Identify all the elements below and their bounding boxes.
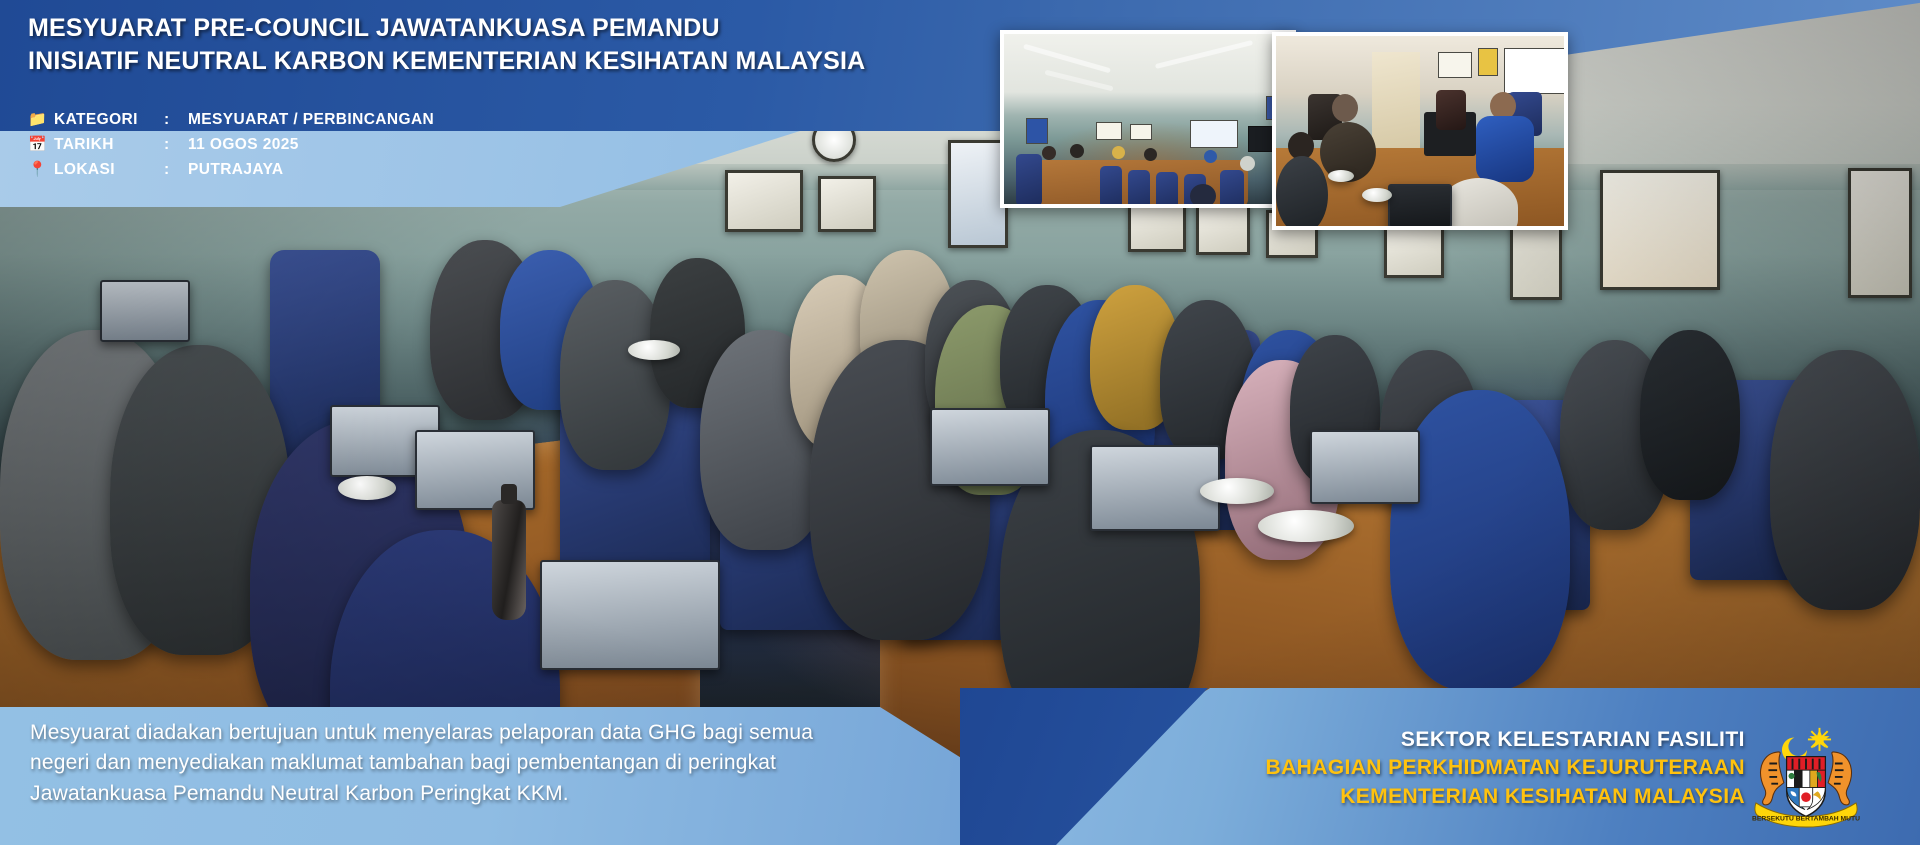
inset-person bbox=[1240, 156, 1255, 171]
inset-person bbox=[1070, 144, 1084, 158]
meeting-room-wide-photo bbox=[1000, 30, 1296, 208]
title-line-1: MESYUARAT PRE-COUNCIL JAWATANKUASA PEMAN… bbox=[28, 12, 1028, 45]
calendar-icon: 📅 bbox=[28, 137, 54, 152]
inset2-person-body bbox=[1276, 156, 1328, 230]
laptop bbox=[1388, 184, 1452, 228]
inset-person bbox=[1112, 146, 1125, 159]
svg-text:BERSEKUTU BERTAMBAH MUTU: BERSEKUTU BERTAMBAH MUTU bbox=[1752, 815, 1860, 822]
inset-chair bbox=[1100, 166, 1122, 208]
brand-line-sektor: SEKTOR KELESTARIAN FASILITI bbox=[1266, 726, 1746, 754]
kategori-label: KATEGORI bbox=[54, 111, 164, 129]
inset2-person-blue-uniform bbox=[1476, 116, 1534, 182]
kategori-value: MESYUARAT / PERBINCANGAN bbox=[188, 111, 434, 129]
inset-chair bbox=[1128, 170, 1150, 208]
wall-frame bbox=[1130, 124, 1152, 140]
event-metadata: 📁 KATEGORI : MESYUARAT / PERBINCANGAN 📅 … bbox=[28, 107, 668, 182]
ceiling-vent bbox=[1023, 44, 1111, 74]
banner-poster: MESYUARAT PRE-COUNCIL JAWATANKUASA PEMAN… bbox=[0, 0, 1920, 845]
inset-chair bbox=[1156, 172, 1178, 208]
tarikh-label: TARIKH bbox=[54, 136, 164, 154]
wall-certificates bbox=[1504, 48, 1568, 94]
wall-document bbox=[1438, 52, 1472, 78]
decor-panel bbox=[1372, 52, 1420, 148]
lokasi-separator: : bbox=[164, 161, 188, 179]
wall-frame bbox=[1096, 122, 1122, 140]
jata-negara-malaysia-emblem: BERSEKUTU BERTAMBAH MUTU bbox=[1748, 724, 1864, 828]
discussion-closeup-photo bbox=[1272, 32, 1568, 230]
ceiling-vent bbox=[1155, 40, 1253, 69]
inset-chair bbox=[1220, 170, 1244, 208]
metadata-row-lokasi: 📍 LOKASI : PUTRAJAYA bbox=[28, 157, 668, 182]
wall-document bbox=[1478, 48, 1498, 76]
kategori-separator: : bbox=[164, 111, 188, 129]
jersey-frame bbox=[1026, 118, 1048, 144]
metadata-row-tarikh: 📅 TARIKH : 11 OGOS 2025 bbox=[28, 132, 668, 157]
organisation-branding: SEKTOR KELESTARIAN FASILITI BAHAGIAN PER… bbox=[1266, 726, 1746, 811]
inset-person bbox=[1144, 148, 1157, 161]
lokasi-label: LOKASI bbox=[54, 161, 164, 179]
inset-person bbox=[1204, 150, 1217, 163]
cup-saucer bbox=[1362, 188, 1392, 202]
inset-person bbox=[1042, 146, 1056, 160]
lokasi-value: PUTRAJAYA bbox=[188, 161, 284, 179]
cup-saucer bbox=[1328, 170, 1354, 182]
brand-line-kementerian: KEMENTERIAN KESIHATAN MALAYSIA bbox=[1266, 783, 1746, 811]
title-line-2: INISIATIF NEUTRAL KARBON KEMENTERIAN KES… bbox=[28, 45, 1028, 78]
projector-screen bbox=[1190, 120, 1238, 148]
brand-line-bahagian: BAHAGIAN PERKHIDMATAN KEJURUTERAAN bbox=[1266, 754, 1746, 782]
caption-text: Mesyuarat diadakan bertujuan untuk menye… bbox=[30, 718, 870, 809]
inset2-chair bbox=[1436, 90, 1466, 130]
ceiling-vent bbox=[1044, 70, 1113, 92]
inset-chair bbox=[1016, 154, 1042, 206]
folder-icon: 📁 bbox=[28, 112, 54, 127]
inset-person bbox=[1190, 184, 1216, 208]
inset2-person-officer bbox=[1332, 94, 1358, 122]
page-title: MESYUARAT PRE-COUNCIL JAWATANKUASA PEMAN… bbox=[28, 12, 1028, 78]
metadata-row-kategori: 📁 KATEGORI : MESYUARAT / PERBINCANGAN bbox=[28, 107, 668, 132]
tarikh-separator: : bbox=[164, 136, 188, 154]
location-pin-icon: 📍 bbox=[28, 162, 54, 177]
tarikh-value: 11 OGOS 2025 bbox=[188, 136, 299, 154]
